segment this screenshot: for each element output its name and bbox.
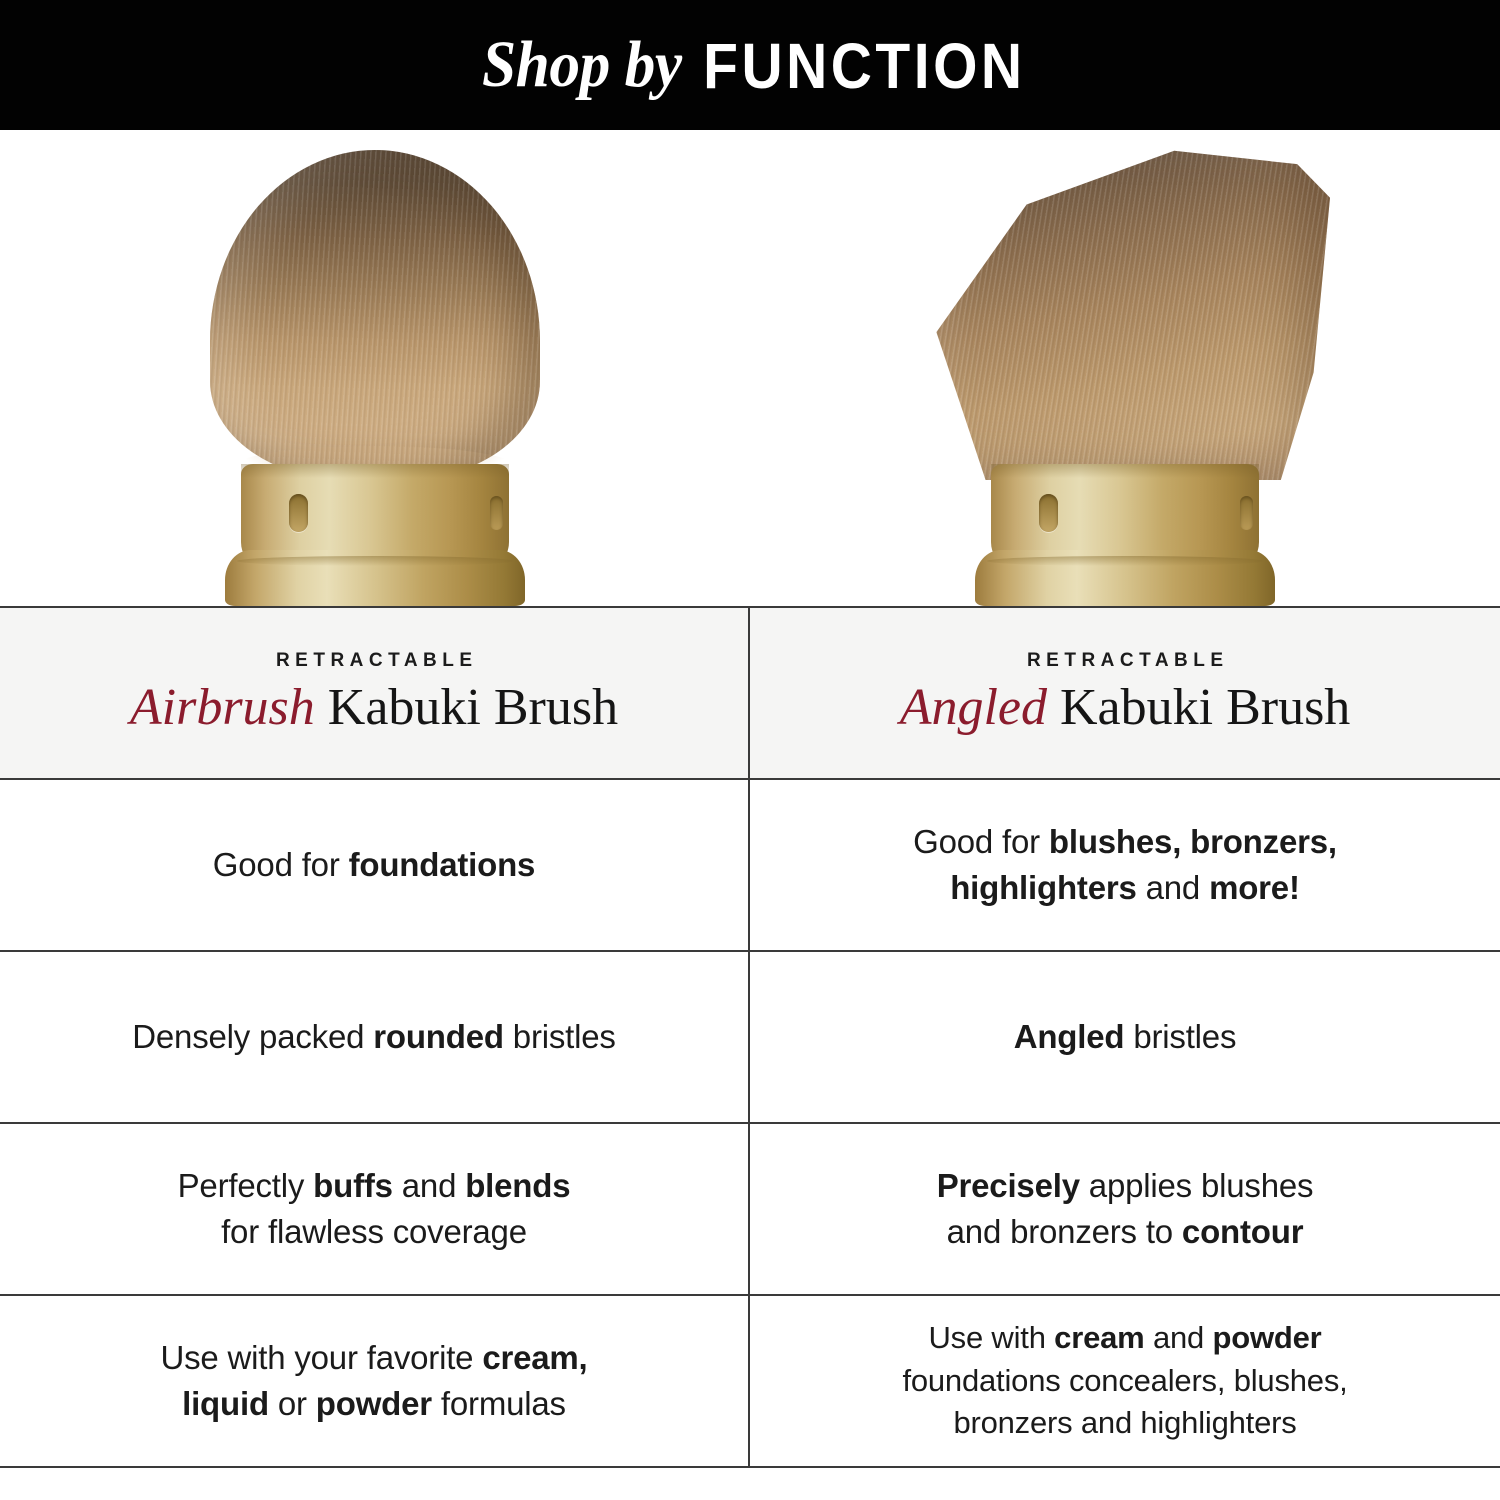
ferrule-slot-secondary-icon xyxy=(1240,496,1253,530)
table-row: Use with your favorite cream,liquid or p… xyxy=(0,1294,1500,1468)
banner-title-bold: FUNCTION xyxy=(703,36,1025,100)
feature-text: Perfectly buffs and blendsfor flawless c… xyxy=(178,1163,571,1254)
feature-text: Good for foundations xyxy=(213,842,535,888)
feature-cell-left: Use with your favorite cream,liquid or p… xyxy=(0,1296,750,1466)
banner-title: Shop by FUNCTION xyxy=(474,32,1025,98)
gold-base-ring xyxy=(225,550,525,606)
gold-base-ring xyxy=(975,550,1275,606)
table-row: Perfectly buffs and blendsfor flawless c… xyxy=(0,1122,1500,1294)
product-title: Airbrush Kabuki Brush xyxy=(130,680,618,736)
table-row: Densely packed rounded bristles Angled b… xyxy=(0,950,1500,1122)
product-title-rest: Kabuki Brush xyxy=(1047,679,1350,736)
feature-text: Good for blushes, bronzers,highlighters … xyxy=(913,819,1337,910)
gold-ferrule xyxy=(991,464,1259,564)
ferrule-shading xyxy=(241,464,509,478)
ferrule-slot-icon xyxy=(289,494,308,532)
ferrule-slot-icon xyxy=(1039,494,1058,532)
product-image-row xyxy=(0,130,1500,606)
feature-text: Angled bristles xyxy=(1014,1014,1237,1060)
gold-ferrule xyxy=(241,464,509,564)
product-title: Angled Kabuki Brush xyxy=(900,680,1351,736)
product-header-angled: RETRACTABLE Angled Kabuki Brush xyxy=(750,608,1500,778)
product-title-accent: Angled xyxy=(900,679,1047,736)
product-image-angled-kabuki xyxy=(750,130,1500,606)
product-eyebrow: RETRACTABLE xyxy=(270,650,477,672)
shop-by-function-infographic: Shop by FUNCTION xyxy=(0,0,1500,1500)
product-title-accent: Airbrush xyxy=(130,679,315,736)
product-header-airbrush: RETRACTABLE Airbrush Kabuki Brush xyxy=(0,608,750,778)
feature-cell-right: Use with cream and powderfoundations con… xyxy=(750,1296,1500,1466)
feature-text: Use with cream and powderfoundations con… xyxy=(902,1317,1347,1445)
bristle-head-rounded-icon xyxy=(210,150,540,480)
ferrule-slot-secondary-icon xyxy=(490,496,503,530)
feature-text: Precisely applies blushesand bronzers to… xyxy=(937,1163,1314,1254)
feature-text: Use with your favorite cream,liquid or p… xyxy=(160,1335,587,1426)
table-header-row: RETRACTABLE Airbrush Kabuki Brush RETRAC… xyxy=(0,606,1500,778)
product-image-airbrush-kabuki xyxy=(0,130,750,606)
feature-cell-left: Densely packed rounded bristles xyxy=(0,952,750,1122)
feature-cell-left: Perfectly buffs and blendsfor flawless c… xyxy=(0,1124,750,1294)
feature-cell-left: Good for foundations xyxy=(0,780,750,950)
banner-title-script: Shop by xyxy=(482,32,695,98)
feature-cell-right: Angled bristles xyxy=(750,952,1500,1122)
brush-illustration-angled xyxy=(965,130,1285,606)
bristle-head-angled-icon xyxy=(920,144,1330,480)
feature-cell-right: Good for blushes, bronzers,highlighters … xyxy=(750,780,1500,950)
header-banner: Shop by FUNCTION xyxy=(0,0,1500,130)
comparison-table: RETRACTABLE Airbrush Kabuki Brush RETRAC… xyxy=(0,606,1500,1468)
feature-cell-right: Precisely applies blushesand bronzers to… xyxy=(750,1124,1500,1294)
product-eyebrow: RETRACTABLE xyxy=(1021,650,1228,672)
table-row: Good for foundations Good for blushes, b… xyxy=(0,778,1500,950)
ferrule-shading xyxy=(991,464,1259,478)
feature-text: Densely packed rounded bristles xyxy=(132,1014,615,1060)
brush-illustration-rounded xyxy=(235,130,515,606)
product-title-rest: Kabuki Brush xyxy=(315,679,618,736)
